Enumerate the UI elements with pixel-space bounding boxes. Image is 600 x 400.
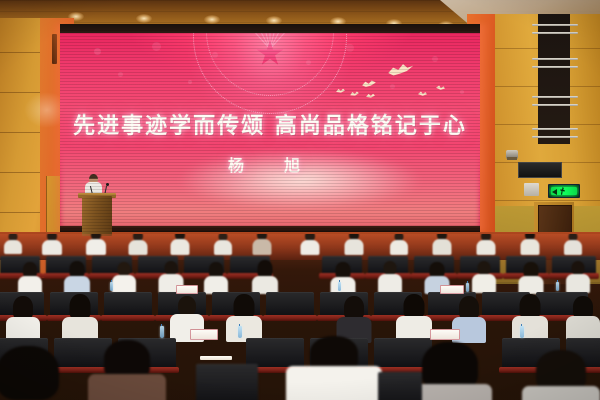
audience-member	[300, 234, 319, 255]
audience-member	[204, 262, 228, 292]
screen-speaker-name: 杨 旭	[60, 152, 480, 176]
microphone-icon	[106, 183, 109, 186]
audience-member	[170, 234, 189, 255]
audience-member	[214, 234, 232, 255]
water-bottle	[556, 282, 559, 291]
paper-sheet	[200, 356, 232, 360]
audience-member	[6, 296, 40, 340]
audience-member	[472, 261, 496, 292]
podium	[82, 196, 112, 236]
audience-area	[0, 234, 600, 400]
auditorium-photo: 先进事迹学而传颂 高尚品格铭记于心 杨 旭	[0, 0, 600, 400]
audience-member	[566, 261, 590, 292]
dove-icon	[418, 91, 428, 98]
audience-member-foreground	[286, 336, 382, 400]
downlight	[204, 15, 220, 24]
audience-member	[4, 234, 22, 254]
water-bottle	[110, 282, 113, 291]
audience-member	[336, 296, 371, 340]
dove-icon	[350, 90, 360, 97]
audience-member	[390, 234, 408, 255]
water-bottle	[160, 326, 164, 338]
dove-icon	[366, 93, 375, 99]
name-card	[190, 329, 218, 340]
audience-member	[564, 234, 582, 255]
audience-member-foreground	[88, 340, 166, 400]
dove-group	[332, 58, 460, 108]
audience-member	[432, 234, 451, 255]
audience-member	[42, 234, 62, 255]
name-card	[176, 285, 198, 294]
audience-member	[62, 294, 98, 340]
exit-sign	[548, 184, 580, 198]
audience-member	[112, 262, 136, 292]
dove-icon	[436, 84, 446, 91]
name-card	[440, 285, 464, 294]
wall-monitor	[518, 162, 562, 178]
dove-icon	[362, 79, 377, 88]
audience-member	[252, 234, 271, 255]
audience-member	[252, 260, 278, 293]
audience-member	[226, 294, 262, 340]
audience-member	[86, 234, 106, 255]
audience-member	[344, 234, 363, 255]
audience-member	[378, 261, 402, 292]
audience-member	[512, 294, 548, 340]
audience-member	[518, 262, 543, 292]
water-bottle	[338, 282, 341, 291]
downlight	[136, 14, 152, 23]
dove-icon	[336, 88, 345, 95]
audience-member	[330, 262, 355, 293]
wall-switch-plate[interactable]	[524, 183, 539, 196]
audience-member-foreground	[0, 346, 68, 400]
screen-title: 先进事迹学而传颂 高尚品格铭记于心	[60, 108, 480, 140]
audience-member	[18, 262, 42, 292]
audience-member	[476, 234, 495, 255]
audience-member-foreground	[522, 350, 600, 400]
water-bottle	[466, 283, 469, 292]
water-bottle	[520, 326, 524, 338]
audience-member	[396, 294, 432, 340]
audience-member	[566, 296, 600, 340]
audience-member	[64, 261, 90, 293]
arrow-left-icon	[552, 189, 557, 195]
wall-speaker-icon	[506, 150, 518, 159]
audience-member	[128, 234, 147, 255]
screen-top-bezel	[60, 24, 480, 33]
name-card	[430, 329, 460, 340]
audience-member	[520, 234, 539, 255]
dove-icon	[387, 62, 415, 79]
led-screen: 先进事迹学而传颂 高尚品格铭记于心 杨 旭	[60, 24, 480, 232]
water-bottle	[238, 326, 242, 338]
led-screen-surface: 先进事迹学而传颂 高尚品格铭记于心 杨 旭	[60, 30, 480, 232]
